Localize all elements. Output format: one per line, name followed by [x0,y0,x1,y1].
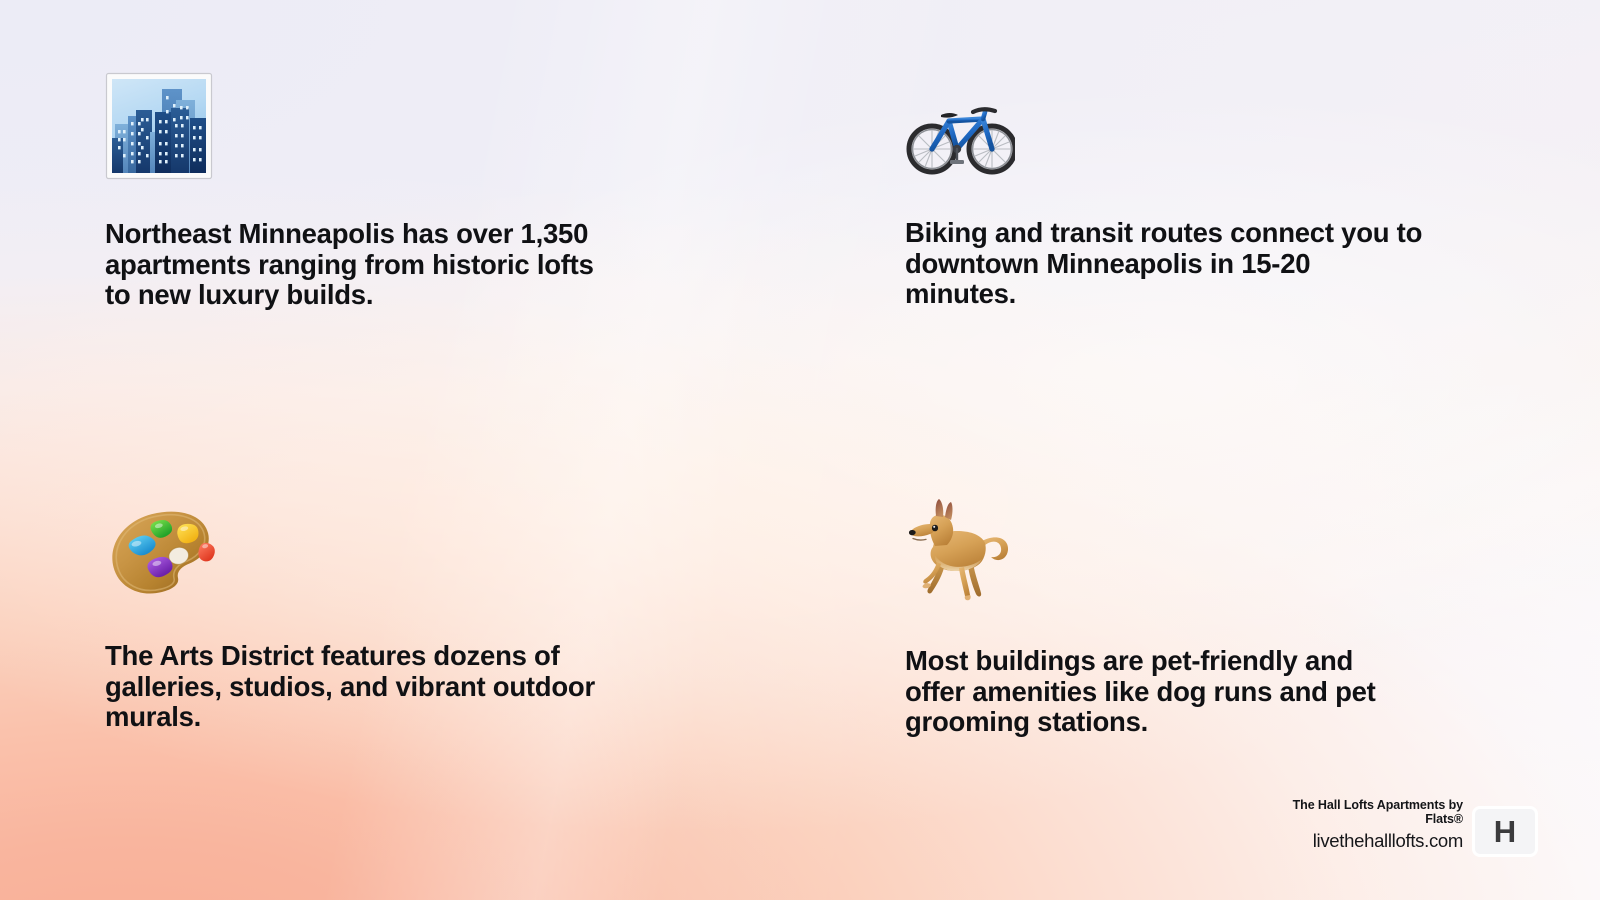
brand-logo[interactable]: H [1475,809,1535,854]
artist-palette-icon [105,505,705,597]
bicycle-icon [905,95,1505,177]
branding-footer: The Hall Lofts Apartments by Flats® live… [1150,798,1535,860]
fact-text-bicycle: Biking and transit routes connect you to… [905,218,1505,310]
brand-website-url[interactable]: livethehalllofts.com [1173,830,1463,851]
fact-cell-artist-palette: The Arts District features dozens of gal… [105,505,705,733]
fact-text-cityscape: Northeast Minneapolis has over 1,350 apa… [105,219,705,311]
dog-icon [905,497,1505,607]
fact-cell-dog: Most buildings are pet-friendly and offe… [905,497,1505,738]
fact-cell-cityscape: Northeast Minneapolis has over 1,350 apa… [105,72,705,311]
fact-text-dog: Most buildings are pet-friendly and offe… [905,646,1505,738]
branding-text-block: The Hall Lofts Apartments by Flats® live… [1173,798,1463,851]
cityscape-icon [105,72,705,180]
fact-text-artist-palette: The Arts District features dozens of gal… [105,641,705,733]
brand-name: The Hall Lofts Apartments by Flats® [1173,798,1463,826]
fact-cell-bicycle: Biking and transit routes connect you to… [905,95,1505,310]
content-grid: Northeast Minneapolis has over 1,350 apa… [0,0,1600,900]
brand-logo-letter: H [1494,816,1516,847]
